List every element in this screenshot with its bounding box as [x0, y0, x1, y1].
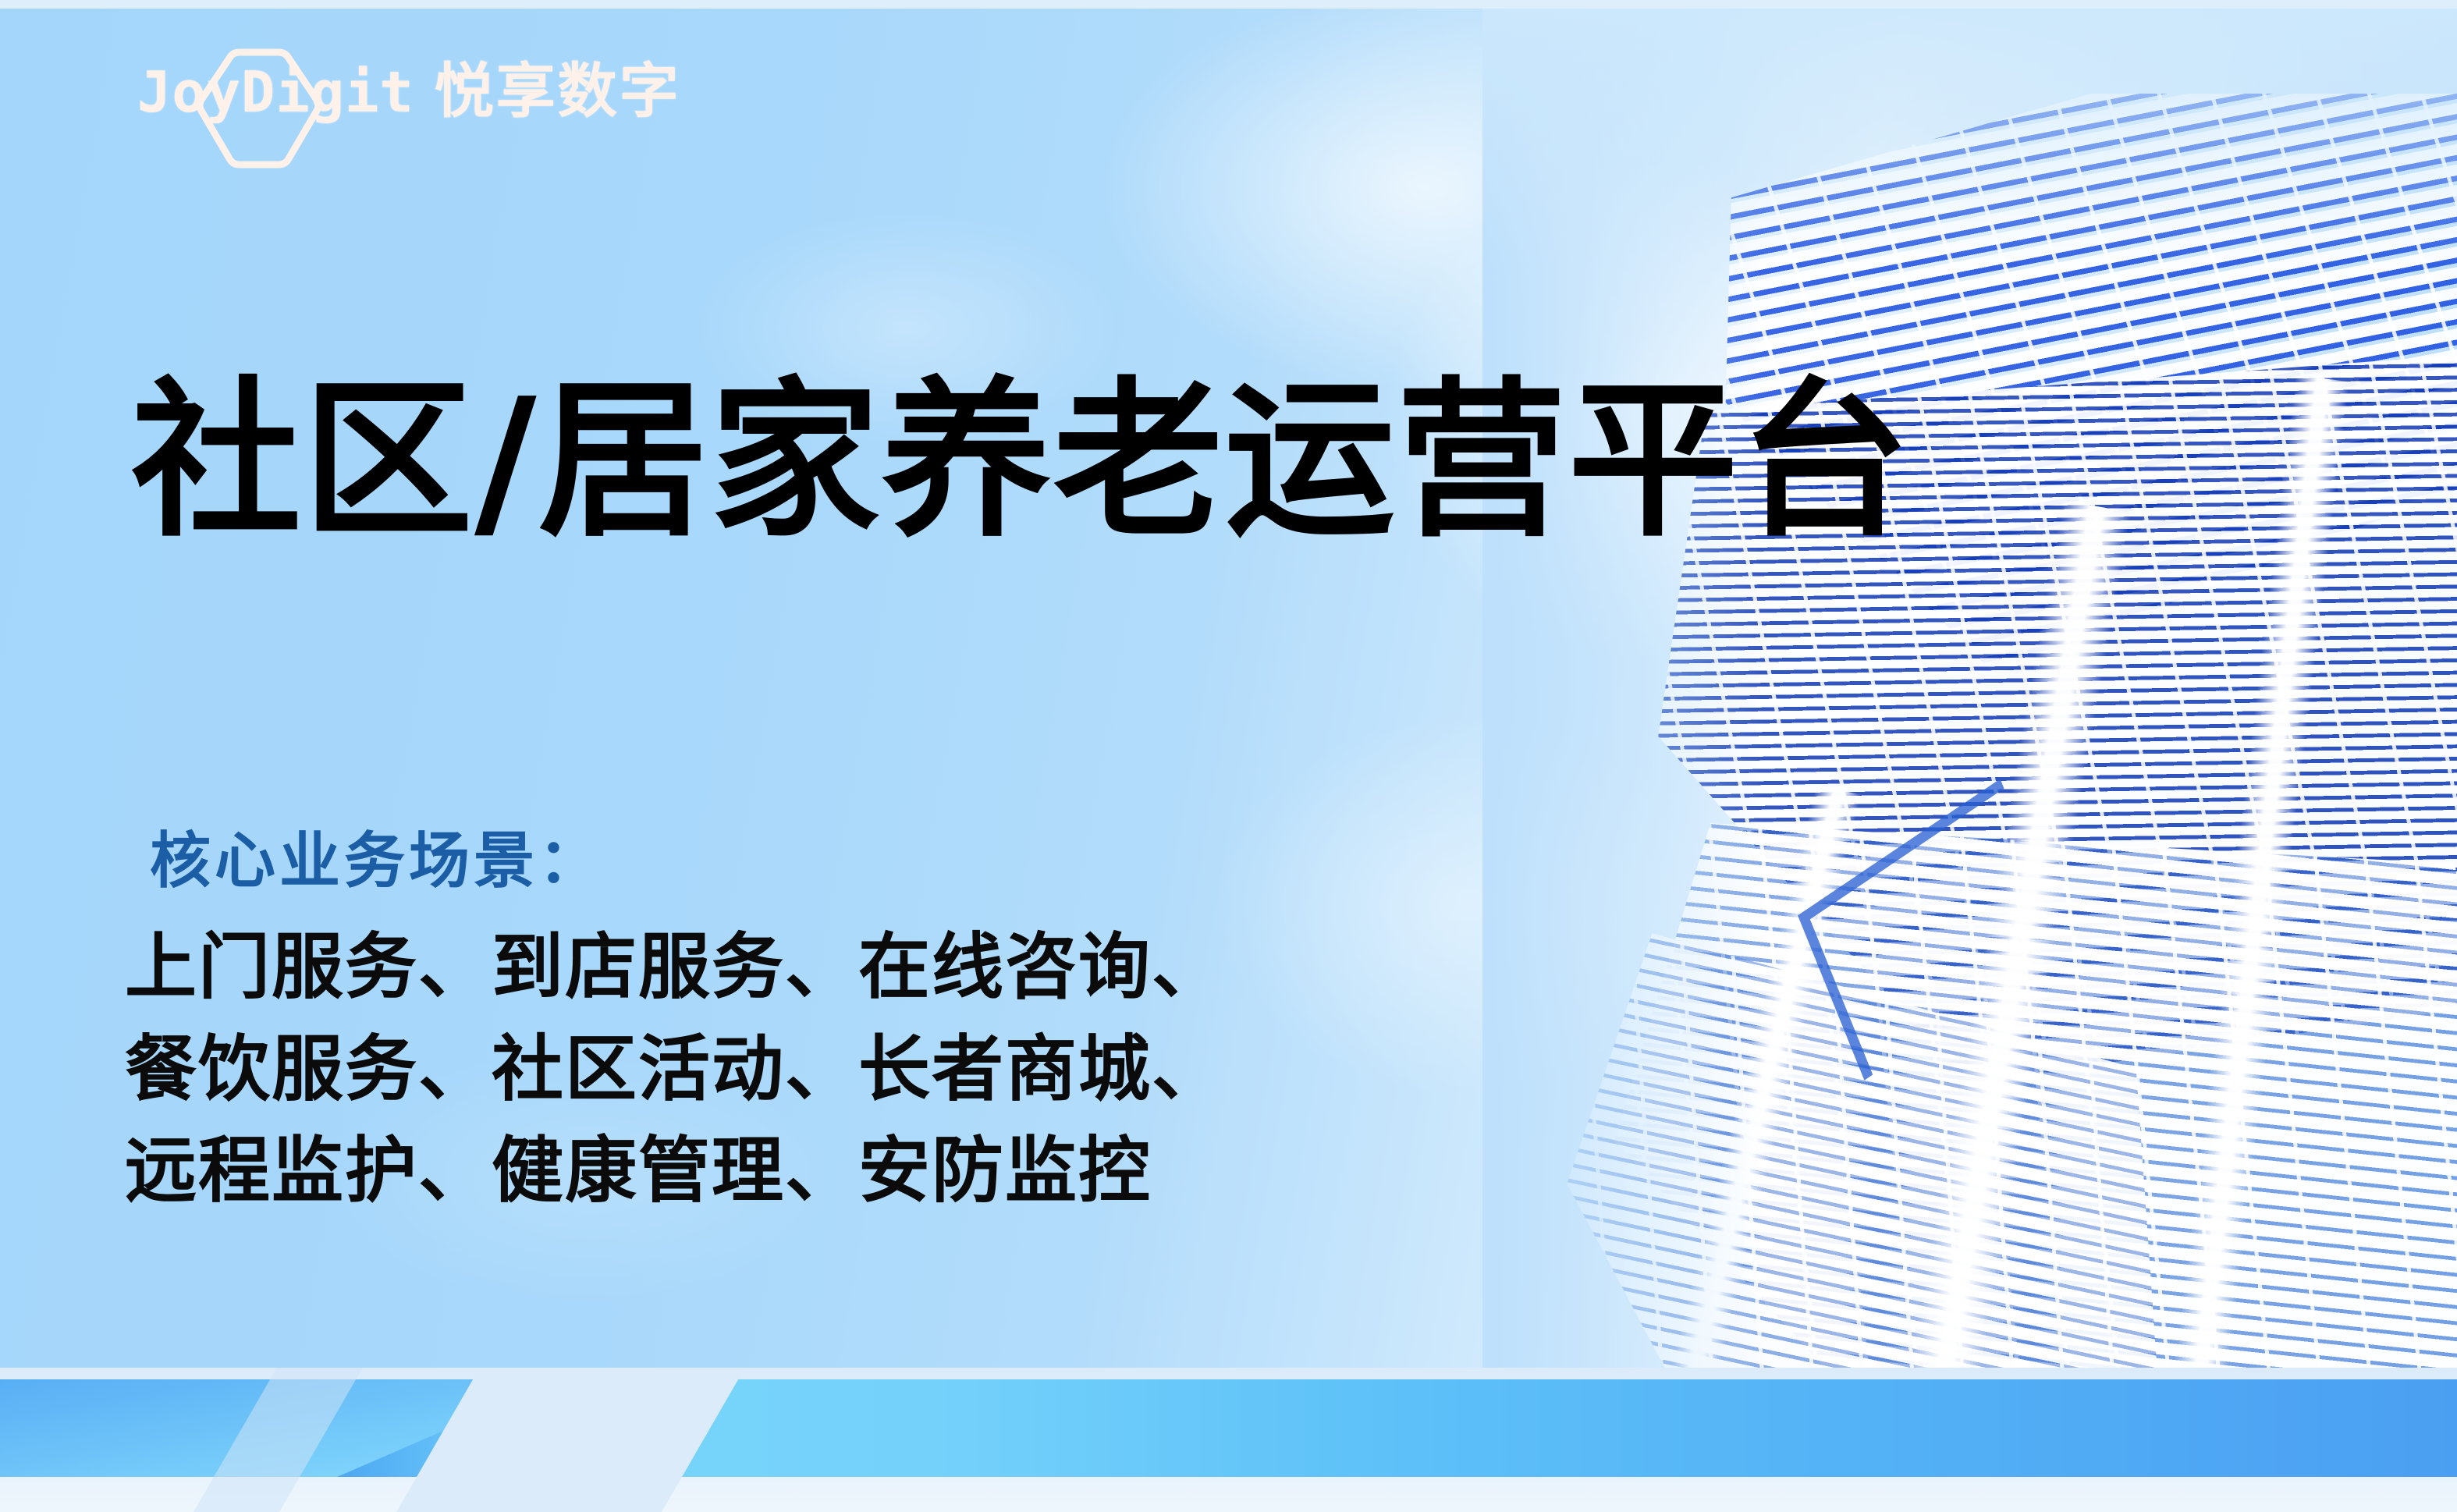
scenario-line: 餐饮服务、社区活动、长者商城、	[125, 1019, 1225, 1121]
logo-wordmark-cn: 悦享数字	[435, 62, 681, 121]
scenario-line: 上门服务、到店服务、在线咨询、	[125, 917, 1225, 1019]
page-title: 社区/居家养老运营平台	[131, 371, 1912, 552]
logo-wordmark-en: JoyDigit	[137, 64, 414, 120]
footer-banner	[0, 1368, 2457, 1512]
slide-canvas: JoyDigit 悦享数字 社区/居家养老运营平台 核心业务场景： 上门服务、到…	[0, 0, 2457, 1512]
scenario-list: 上门服务、到店服务、在线咨询、 餐饮服务、社区活动、长者商城、 远程监护、健康管…	[125, 917, 1225, 1223]
brand-logo[interactable]: JoyDigit 悦享数字	[137, 41, 681, 142]
scenario-line: 远程监护、健康管理、安防监控	[125, 1120, 1225, 1223]
section-subhead: 核心业务场景：	[150, 831, 603, 892]
